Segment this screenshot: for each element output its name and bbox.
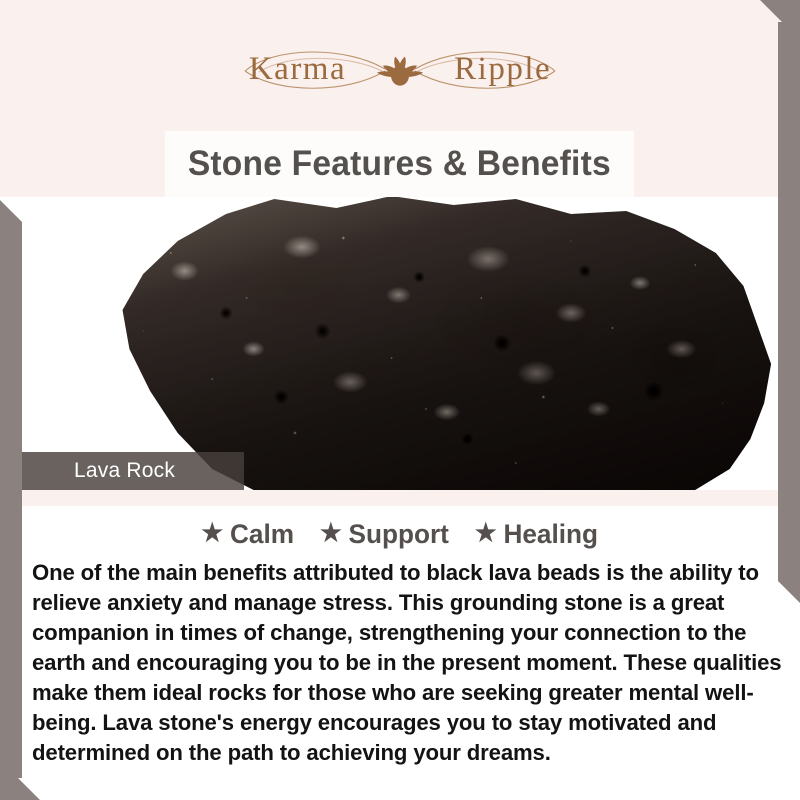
benefit-item-calm: ★ Calm bbox=[202, 519, 295, 550]
brand-name-right: Ripple bbox=[454, 53, 551, 86]
page-body: Karma Ripple bbox=[0, 0, 800, 800]
content-section: ★ Calm ★ Support ★ Healing One of the ma… bbox=[0, 506, 800, 800]
brand-logo: Karma Ripple bbox=[0, 38, 800, 100]
lava-rock-texture bbox=[88, 197, 778, 490]
page-title: Stone Features & Benefits bbox=[188, 144, 611, 184]
infographic-canvas: Karma Ripple bbox=[0, 0, 800, 800]
header-section: Karma Ripple bbox=[0, 0, 800, 197]
page-title-band: Stone Features & Benefits bbox=[165, 131, 634, 197]
benefit-label: Healing bbox=[503, 519, 598, 550]
photo-separator bbox=[0, 490, 800, 506]
star-icon: ★ bbox=[320, 521, 342, 546]
lotus-icon bbox=[374, 53, 426, 87]
photo-caption: Lava Rock bbox=[74, 459, 175, 483]
photo-caption-band: Lava Rock bbox=[22, 452, 244, 490]
stone-photo bbox=[0, 197, 800, 490]
benefit-item-healing: ★ Healing bbox=[475, 519, 598, 550]
star-icon: ★ bbox=[475, 521, 497, 546]
frame-right-bar bbox=[778, 0, 800, 603]
frame-top-notch bbox=[0, 0, 760, 22]
frame-bottom-notch bbox=[40, 778, 800, 800]
star-icon: ★ bbox=[202, 521, 224, 546]
description-text: One of the main benefits attributed to b… bbox=[32, 558, 783, 768]
lava-rock-image bbox=[88, 197, 778, 490]
benefit-item-support: ★ Support bbox=[320, 519, 449, 550]
benefit-list: ★ Calm ★ Support ★ Healing bbox=[0, 519, 800, 550]
brand-name-left: Karma bbox=[249, 53, 346, 86]
benefit-label: Support bbox=[348, 519, 448, 550]
benefit-label: Calm bbox=[230, 519, 294, 550]
frame-left-bar bbox=[0, 200, 22, 800]
